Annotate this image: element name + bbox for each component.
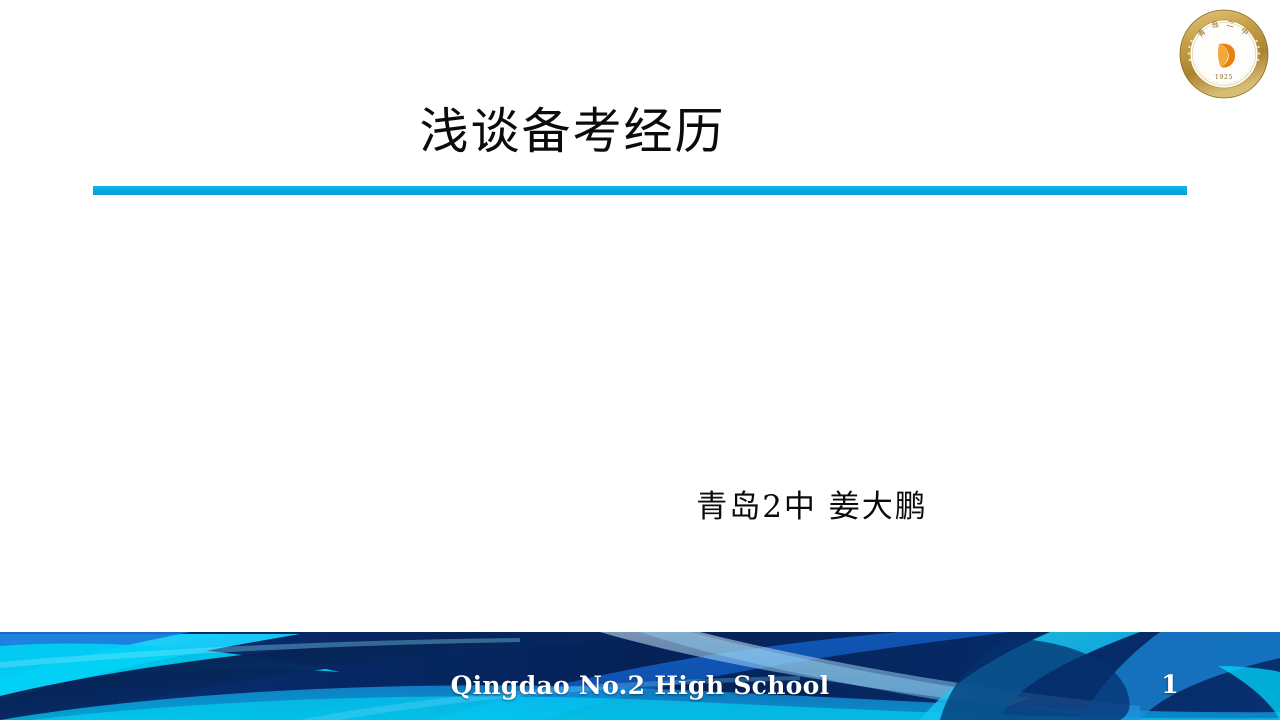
presentation-slide: 浅谈备考经历 青岛2中 姜大鹏	[0, 0, 1280, 720]
logo-founded-year: 1925	[1215, 74, 1233, 81]
slide-subtitle: 青岛2中 姜大鹏	[612, 481, 1012, 526]
title-divider	[93, 186, 1187, 195]
page-number: 1	[1150, 670, 1190, 699]
page-title: 浅谈备考经历	[0, 103, 1145, 161]
footer-wave-graphic	[0, 632, 1280, 720]
school-logo: 青 岛 二 中 QINGDAO NO.2 HIGH SCHOOL	[1178, 8, 1270, 100]
footer-wave-band	[0, 632, 1280, 720]
